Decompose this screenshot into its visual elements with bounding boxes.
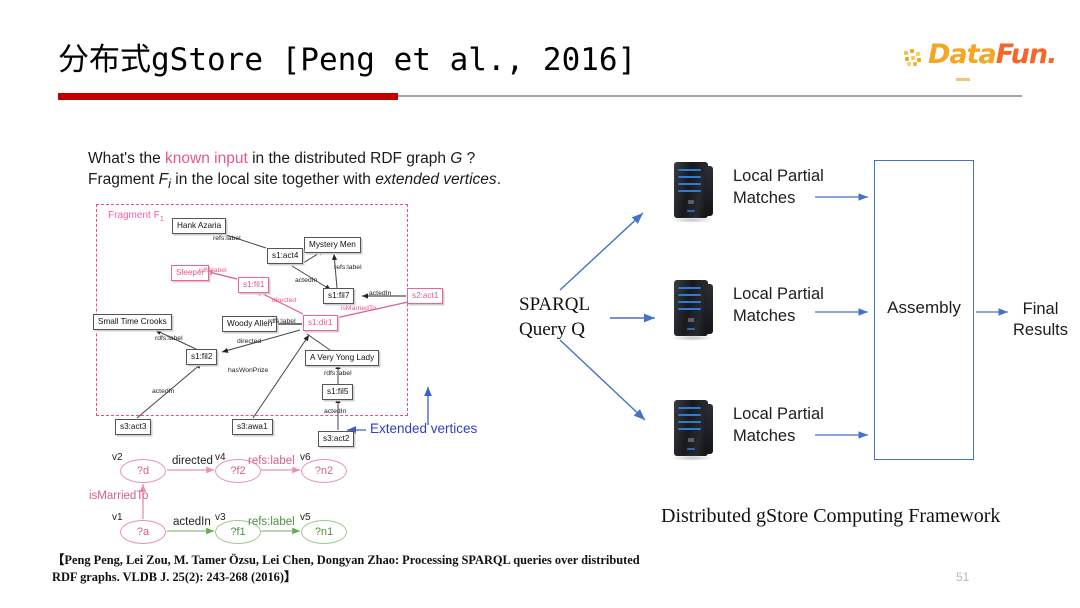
lpm-1-line-1: Local Partial <box>733 165 824 187</box>
local-partial-matches-3: Local Partial Matches <box>733 403 824 447</box>
lpm-1-line-2: Matches <box>733 187 824 209</box>
lpm-2-line-2: Matches <box>733 305 824 327</box>
query-vtag-v1: v1 <box>112 512 123 523</box>
logo-dots-icon <box>904 49 926 67</box>
local-partial-matches-2: Local Partial Matches <box>733 283 824 327</box>
final-line-1: Final <box>1013 299 1068 320</box>
query-edge-refs-label-top: refs:label <box>248 455 295 467</box>
rdf-edge-label-actedin-1: actedIn <box>295 277 317 284</box>
rdf-edge-label-rdfs-label-1: rdfs:label <box>199 267 227 274</box>
q2-a: Fragment <box>88 171 159 188</box>
slide-root: 分布式gStore [Peng et al., 2016] DataFun. W… <box>0 0 1080 608</box>
q1-highlight: known input <box>165 150 248 167</box>
rdf-edge-label-haswonprize: hasWonPrize <box>228 367 268 374</box>
citation-line-1: 【Peng Peng, Lei Zou, M. Tamer Özsu, Lei … <box>52 552 852 569</box>
lpm-2-line-1: Local Partial <box>733 283 824 305</box>
title-underline-red <box>58 93 398 100</box>
rdf-edge-label-actedin-3: actedIn <box>152 388 174 395</box>
logo-text-dot: . <box>1047 39 1056 70</box>
rdf-node-s2-act1: s2:act1 <box>407 288 443 304</box>
logo-text: DataFun. <box>928 39 1056 70</box>
final-line-2: Results <box>1013 320 1068 341</box>
title-underline-grey <box>398 95 1022 97</box>
page-number: 51 <box>956 570 969 584</box>
framework-caption: Distributed gStore Computing Framework <box>661 505 1000 528</box>
rdf-node-s1-fil1: s1:fil1 <box>238 277 269 293</box>
rdf-node-mystery-men: Mystery Men <box>304 237 361 253</box>
assembly-label: Assembly <box>874 298 974 318</box>
rdf-edge-label-rdfs-label-2: rdfs:label <box>268 318 296 325</box>
rdf-node-s3-awa1: s3:awa1 <box>232 419 273 435</box>
sparql-query-label: SPARQL Query Q <box>519 292 590 342</box>
lpm-3-line-2: Matches <box>733 425 824 447</box>
rdf-node-s3-act3: s3:act3 <box>115 419 151 435</box>
q1-a: What's the <box>88 150 165 167</box>
query-node-n2: ?n2 <box>301 459 347 483</box>
page-title: 分布式gStore [Peng et al., 2016] <box>58 34 636 79</box>
rdf-node-s1-dir1: s1:dir1 <box>303 315 338 331</box>
rdf-node-s1-fil7: s1:fil7 <box>323 288 354 304</box>
datafun-logo: DataFun. <box>904 40 1054 76</box>
query-edge-actedin: actedIn <box>173 516 211 528</box>
rdf-edge-label-directed-1: directed <box>272 297 296 304</box>
logo-underbar <box>956 78 970 81</box>
query-vtag-v2: v2 <box>112 452 123 463</box>
rdf-edge-label-ismarriedto: isMarriedTo <box>341 305 376 312</box>
sparql-line-2: Query Q <box>519 317 590 342</box>
q1-c: ? <box>462 150 475 167</box>
query-vtag-v5: v5 <box>300 512 311 523</box>
fragment-label-text: Fragment F <box>108 210 160 221</box>
rdf-edge-label-rdfs-label-3: rdfs:label <box>155 335 183 342</box>
rdf-edge-label-rdfs-label-4: rdfs:label <box>324 370 352 377</box>
rdf-node-s1-fil2: s1:fil2 <box>186 349 217 365</box>
fragment-label: Fragment F1 <box>108 210 164 223</box>
lpm-3-line-1: Local Partial <box>733 403 824 425</box>
question-line-1: What's the known input in the distribute… <box>88 148 501 169</box>
query-edge-ismarriedto: isMarriedTo <box>89 490 148 502</box>
citation-line-2: RDF graphs. VLDB J. 25(2): 243-268 (2016… <box>52 569 852 586</box>
server-tower-icon-3 <box>668 398 716 460</box>
query-node-d: ?d <box>120 459 166 483</box>
q2-c: . <box>497 171 501 188</box>
rdf-edge-label-directed-2: directed <box>237 338 261 345</box>
question-text: What's the known input in the distribute… <box>88 148 501 194</box>
server-tower-icon-1 <box>668 160 716 222</box>
logo-text-fun: Fun <box>996 39 1047 70</box>
query-node-n1: ?n1 <box>301 520 347 544</box>
extended-vertices-label: Extended vertices <box>370 421 477 436</box>
rdf-node-s1-act4: s1:act4 <box>267 248 303 264</box>
q1-italic-g: G <box>450 150 462 167</box>
query-edge-directed: directed <box>172 455 213 467</box>
rdf-edge-label-refs-label-2: refs:label <box>334 264 362 271</box>
q2-italic-ev: extended vertices <box>375 171 497 188</box>
rdf-node-hank-azaria: Hank Azaria <box>172 218 226 234</box>
q2-b: in the local site together with <box>171 171 375 188</box>
q2-italic-f: F <box>159 171 168 188</box>
rdf-node-s3-act2: s3:act2 <box>318 431 354 447</box>
final-results-label: Final Results <box>1013 299 1068 341</box>
rdf-edge-label-refs-label-1: refs:label <box>213 235 241 242</box>
rdf-edge-label-actedin-4: actedIn <box>324 408 346 415</box>
rdf-edge-label-actedin-2: actedIn <box>369 290 391 297</box>
q1-b: in the distributed RDF graph <box>248 150 450 167</box>
server-tower-icon-2 <box>668 278 716 340</box>
rdf-node-small-time-crooks: Small Time Crooks <box>93 314 172 330</box>
logo-text-data: Data <box>928 39 996 70</box>
sparql-line-1: SPARQL <box>519 292 590 317</box>
question-line-2: Fragment Fi in the local site together w… <box>88 169 501 194</box>
local-partial-matches-1: Local Partial Matches <box>733 165 824 209</box>
query-edge-refs-label-bottom: refs:label <box>248 516 295 528</box>
query-node-a: ?a <box>120 520 166 544</box>
fragment-label-sub: 1 <box>160 214 164 223</box>
citation: 【Peng Peng, Lei Zou, M. Tamer Özsu, Lei … <box>52 552 852 586</box>
rdf-node-s1-fil5: s1:fil5 <box>322 384 353 400</box>
rdf-node-a-very-yong-lady: A Very Yong Lady <box>305 350 379 366</box>
